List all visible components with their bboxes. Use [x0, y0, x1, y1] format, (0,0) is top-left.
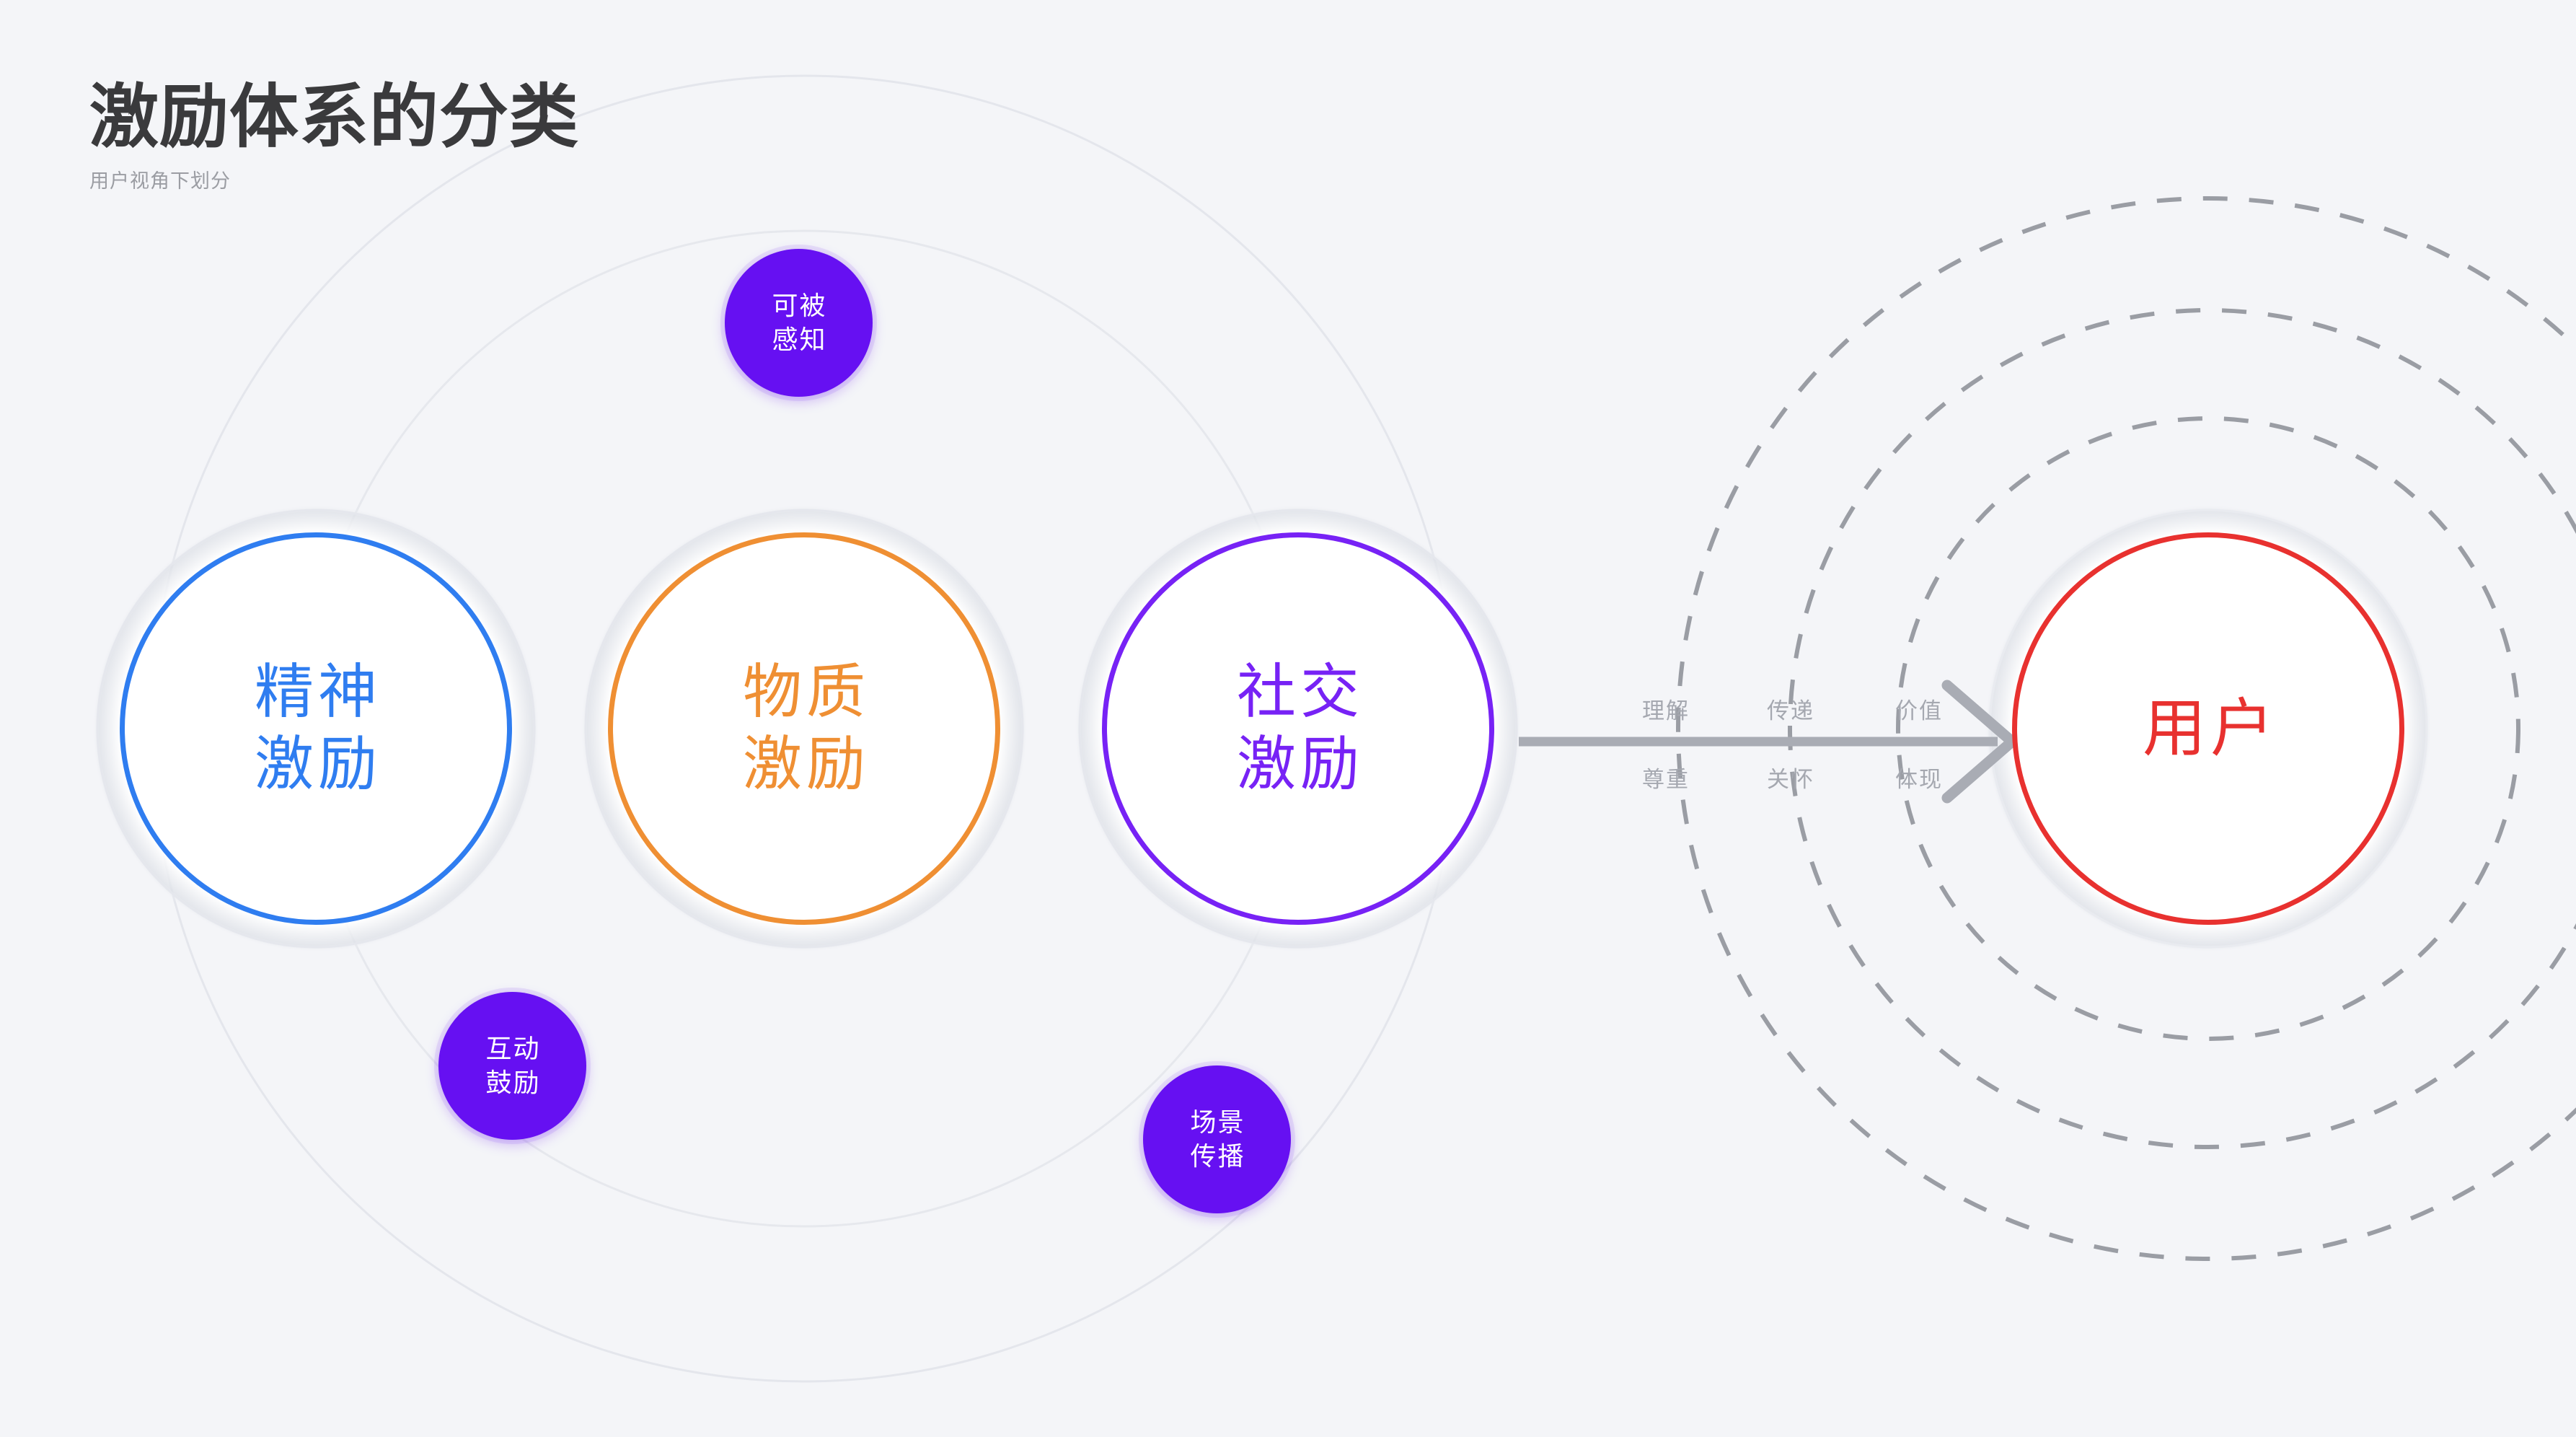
page-title: 激励体系的分类	[89, 83, 579, 152]
badge-perceivable-line2: 感知	[770, 323, 826, 356]
flow-label-top-1: 理解	[1642, 693, 1690, 725]
badge-perceivable-line1: 可被	[770, 289, 826, 322]
node-spiritual-incentive[interactable]: 精神 激励	[120, 532, 512, 925]
flow-label-bottom-3: 体现	[1895, 761, 1943, 794]
node-user-label: 用户	[2138, 690, 2278, 767]
flow-label-bottom-2: 关怀	[1767, 761, 1814, 794]
node-social-incentive[interactable]: 社交 激励	[1102, 532, 1494, 925]
flow-label-top-2: 传递	[1767, 693, 1814, 725]
node-social-line2: 激励	[1232, 729, 1364, 801]
node-spiritual-line2: 激励	[250, 729, 381, 801]
badge-interaction-line2: 鼓励	[484, 1066, 540, 1099]
badge-scene-spread[interactable]: 场景 传播	[1143, 1065, 1291, 1213]
badge-perceivable[interactable]: 可被 感知	[725, 249, 873, 397]
badge-interaction-line1: 互动	[484, 1032, 540, 1065]
badge-scene-line1: 场景	[1188, 1106, 1245, 1139]
flow-label-top-3: 价值	[1895, 693, 1943, 725]
node-material-incentive[interactable]: 物质 激励	[608, 532, 1000, 925]
badge-interaction-encourage[interactable]: 互动 鼓励	[438, 992, 586, 1140]
node-social-line1: 社交	[1232, 656, 1364, 729]
flow-label-bottom-1: 尊重	[1642, 761, 1690, 794]
badge-scene-line2: 传播	[1188, 1140, 1245, 1173]
page-subtitle: 用户视角下划分	[89, 165, 579, 193]
node-material-line1: 物质	[738, 656, 870, 729]
diagram-canvas: 激励体系的分类 用户视角下划分 精神 激励 物质 激励 社交 激励 用户 可被 …	[0, 0, 2576, 1437]
node-material-line2: 激励	[738, 729, 870, 801]
header-block: 激励体系的分类 用户视角下划分	[89, 83, 579, 193]
node-spiritual-line1: 精神	[250, 656, 381, 729]
node-user[interactable]: 用户	[2012, 532, 2404, 925]
